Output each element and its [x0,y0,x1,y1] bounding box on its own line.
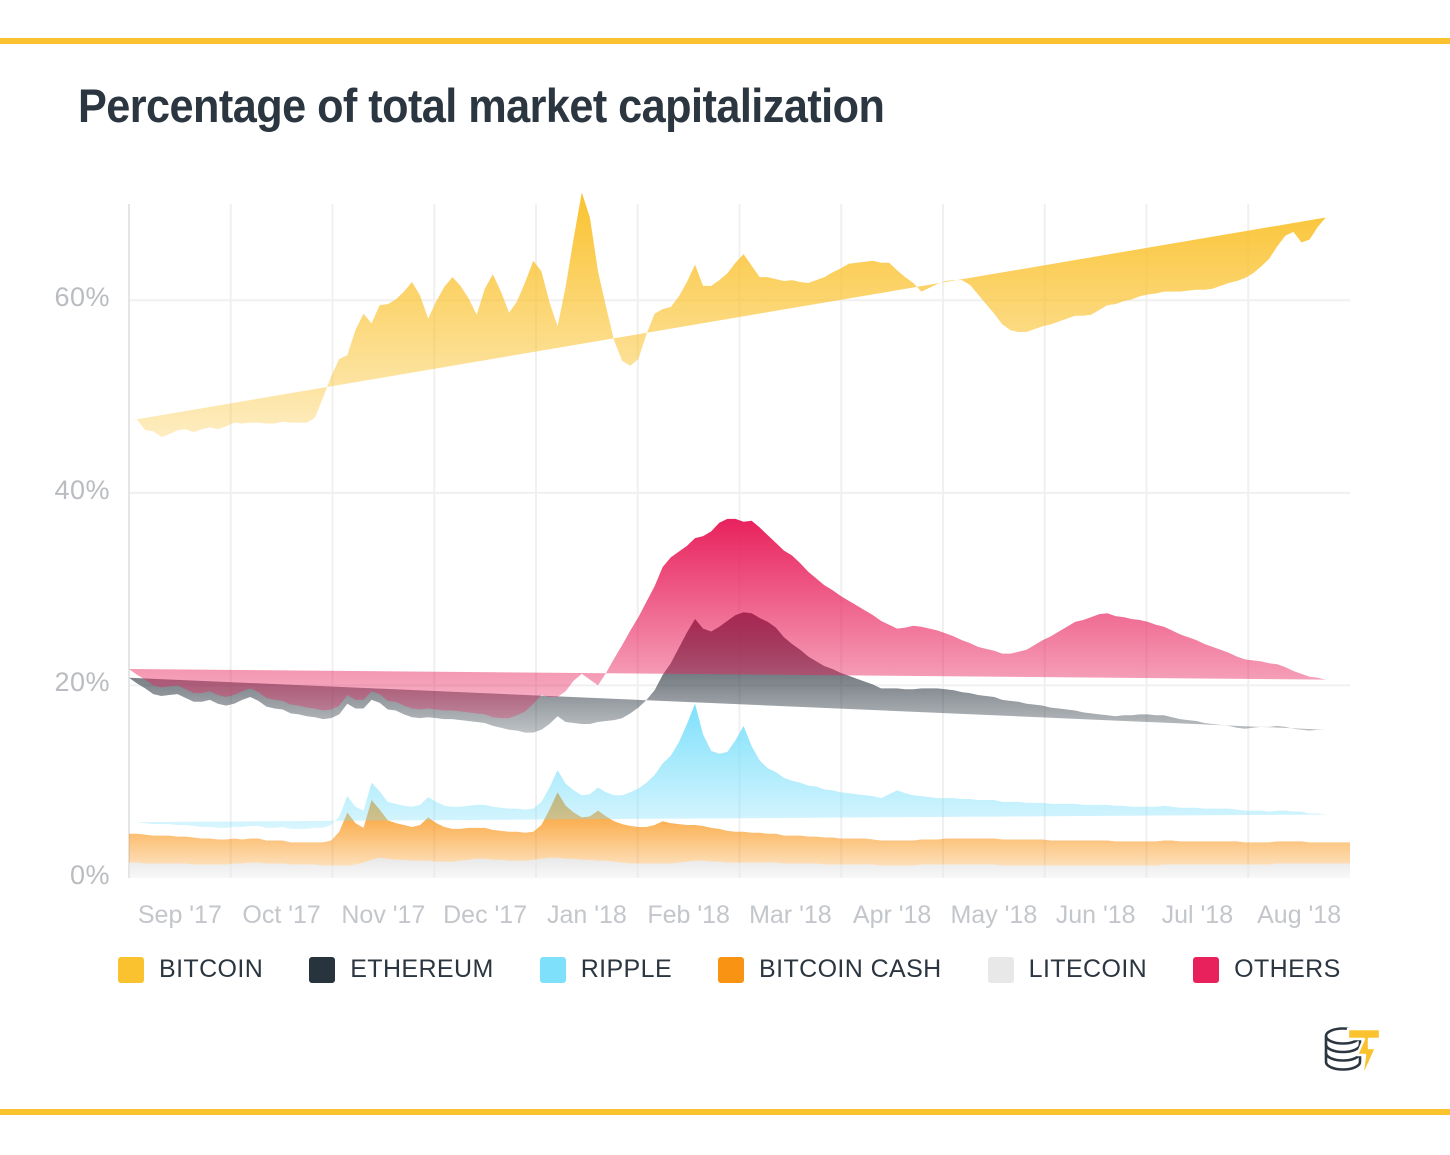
x-tick-label: Jun '18 [1045,901,1147,930]
legend-item-litecoin[interactable]: LITECOIN [988,955,1148,984]
legend-label: ETHEREUM [350,955,493,984]
x-tick-label: Feb '18 [638,901,740,930]
x-tick-label: Jan '18 [536,901,638,930]
x-tick-label: Dec '17 [434,901,536,930]
x-tick-label: Aug '18 [1248,901,1350,930]
x-tick-label: Jul '18 [1147,901,1249,930]
coin-stack-bolt-logo [1318,1022,1384,1084]
legend-item-bitcoin-cash[interactable]: BITCOIN CASH [718,955,942,984]
legend-item-others[interactable]: OTHERS [1193,955,1341,984]
x-tick-label: May '18 [943,901,1045,930]
y-tick-label: 40% [20,475,110,506]
legend-swatch-icon [540,957,566,983]
legend-swatch-icon [1193,957,1219,983]
y-tick-label: 20% [20,667,110,698]
legend-item-ripple[interactable]: RIPPLE [540,955,672,984]
legend-label: LITECOIN [1029,955,1148,984]
legend-label: BITCOIN CASH [759,955,942,984]
x-tick-label: Apr '18 [841,901,943,930]
area-series-ripple [129,704,1334,829]
legend-label: OTHERS [1234,955,1341,984]
legend-swatch-icon [988,957,1014,983]
legend-label: RIPPLE [581,955,672,984]
legend-swatch-icon [718,957,744,983]
legend-swatch-icon [309,957,335,983]
legend-label: BITCOIN [159,955,263,984]
legend-item-bitcoin[interactable]: BITCOIN [118,955,263,984]
y-tick-label: 0% [20,860,110,891]
legend-swatch-icon [118,957,144,983]
x-tick-label: Oct '17 [231,901,333,930]
x-tick-label: Nov '17 [333,901,435,930]
y-tick-label: 60% [20,282,110,313]
legend-item-ethereum[interactable]: ETHEREUM [309,955,493,984]
x-tick-label: Sep '17 [129,901,231,930]
bottom-accent-rule [0,1109,1450,1115]
x-tick-label: Mar '18 [740,901,842,930]
chart-legend: BITCOINETHEREUMRIPPLEBITCOIN CASHLITECOI… [118,955,1387,984]
